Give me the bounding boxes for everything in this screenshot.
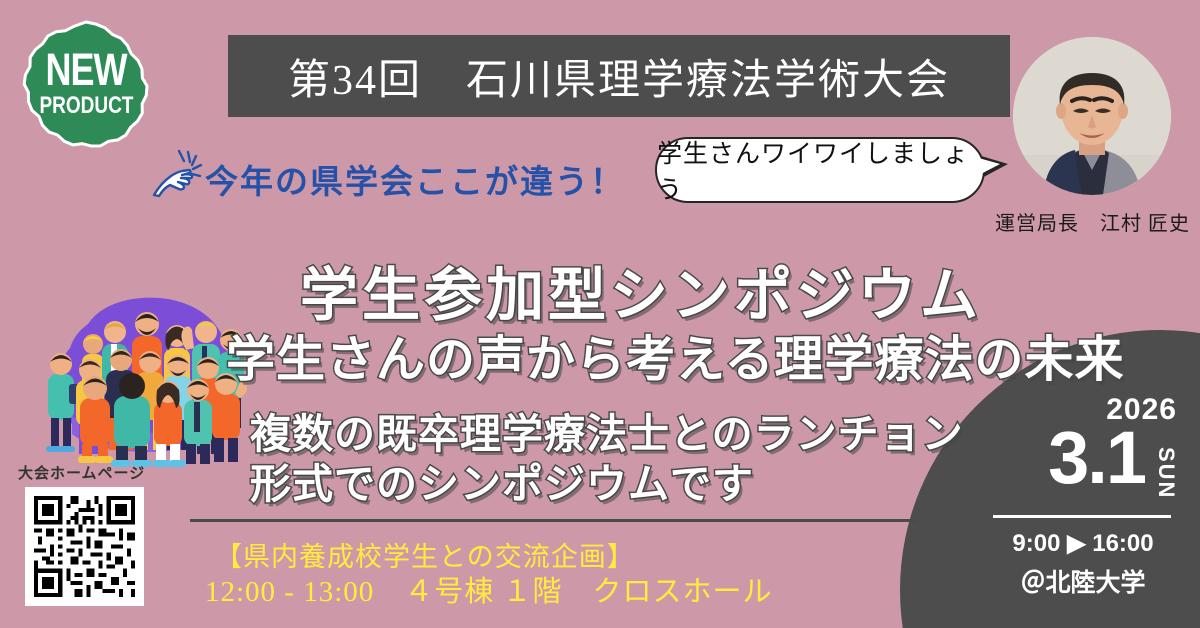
badge-line-product: PRODUCT bbox=[39, 94, 133, 118]
badge-line-new: NEW bbox=[46, 48, 127, 93]
section-divider bbox=[190, 519, 916, 522]
qr-code-icon bbox=[34, 496, 135, 597]
date-day-of-week: SUN bbox=[1153, 447, 1179, 499]
qr-label: 大会ホームページ bbox=[18, 462, 145, 483]
speech-bubble: 学生さんワイワイしましょう bbox=[655, 137, 985, 203]
crowd-illustration bbox=[36, 286, 248, 468]
poster-canvas: NEW PRODUCT 第34回 石川県理学療法学術大会 bbox=[0, 0, 1200, 628]
page-title: 第34回 石川県理学療法学術大会 bbox=[288, 46, 950, 107]
speech-bubble-text: 学生さんワイワイしましょう bbox=[657, 134, 983, 206]
headline-line-2: 学生さんの声から考える理学療法の未来 bbox=[226, 320, 1125, 391]
date-rule bbox=[993, 515, 1171, 518]
headline-line-4: 形式でのシンポジウムです bbox=[250, 450, 754, 510]
date-panel-content: 2026 3.1 SUN 9:00 ▶ 16:00 ＠北陸大学 bbox=[985, 395, 1185, 620]
qr-code[interactable] bbox=[25, 487, 144, 606]
date-venue: ＠北陸大学 bbox=[985, 563, 1181, 599]
new-product-badge: NEW PRODUCT bbox=[18, 16, 154, 152]
portrait-photo bbox=[1013, 37, 1171, 195]
date-time-range: 9:00 ▶ 16:00 bbox=[985, 529, 1181, 558]
badge-text-group: NEW PRODUCT bbox=[18, 16, 154, 152]
speech-bubble-tail-fill bbox=[975, 157, 1000, 177]
event-detail-line-2: 12:00 - 13:00 ４号棟 １階 クロスホール bbox=[205, 568, 773, 610]
header-title-bar: 第34回 石川県理学療法学術大会 bbox=[228, 35, 1010, 117]
pointing-hand-icon bbox=[148, 148, 204, 200]
tagline-text: 今年の県学会ここが違う！ bbox=[205, 155, 625, 203]
date-day: 3.1 bbox=[995, 421, 1145, 495]
portrait-caption: 運営局長 江村 匠史 bbox=[985, 207, 1200, 236]
portrait-illustration-icon bbox=[1013, 37, 1171, 195]
people-group-icon bbox=[36, 286, 248, 468]
